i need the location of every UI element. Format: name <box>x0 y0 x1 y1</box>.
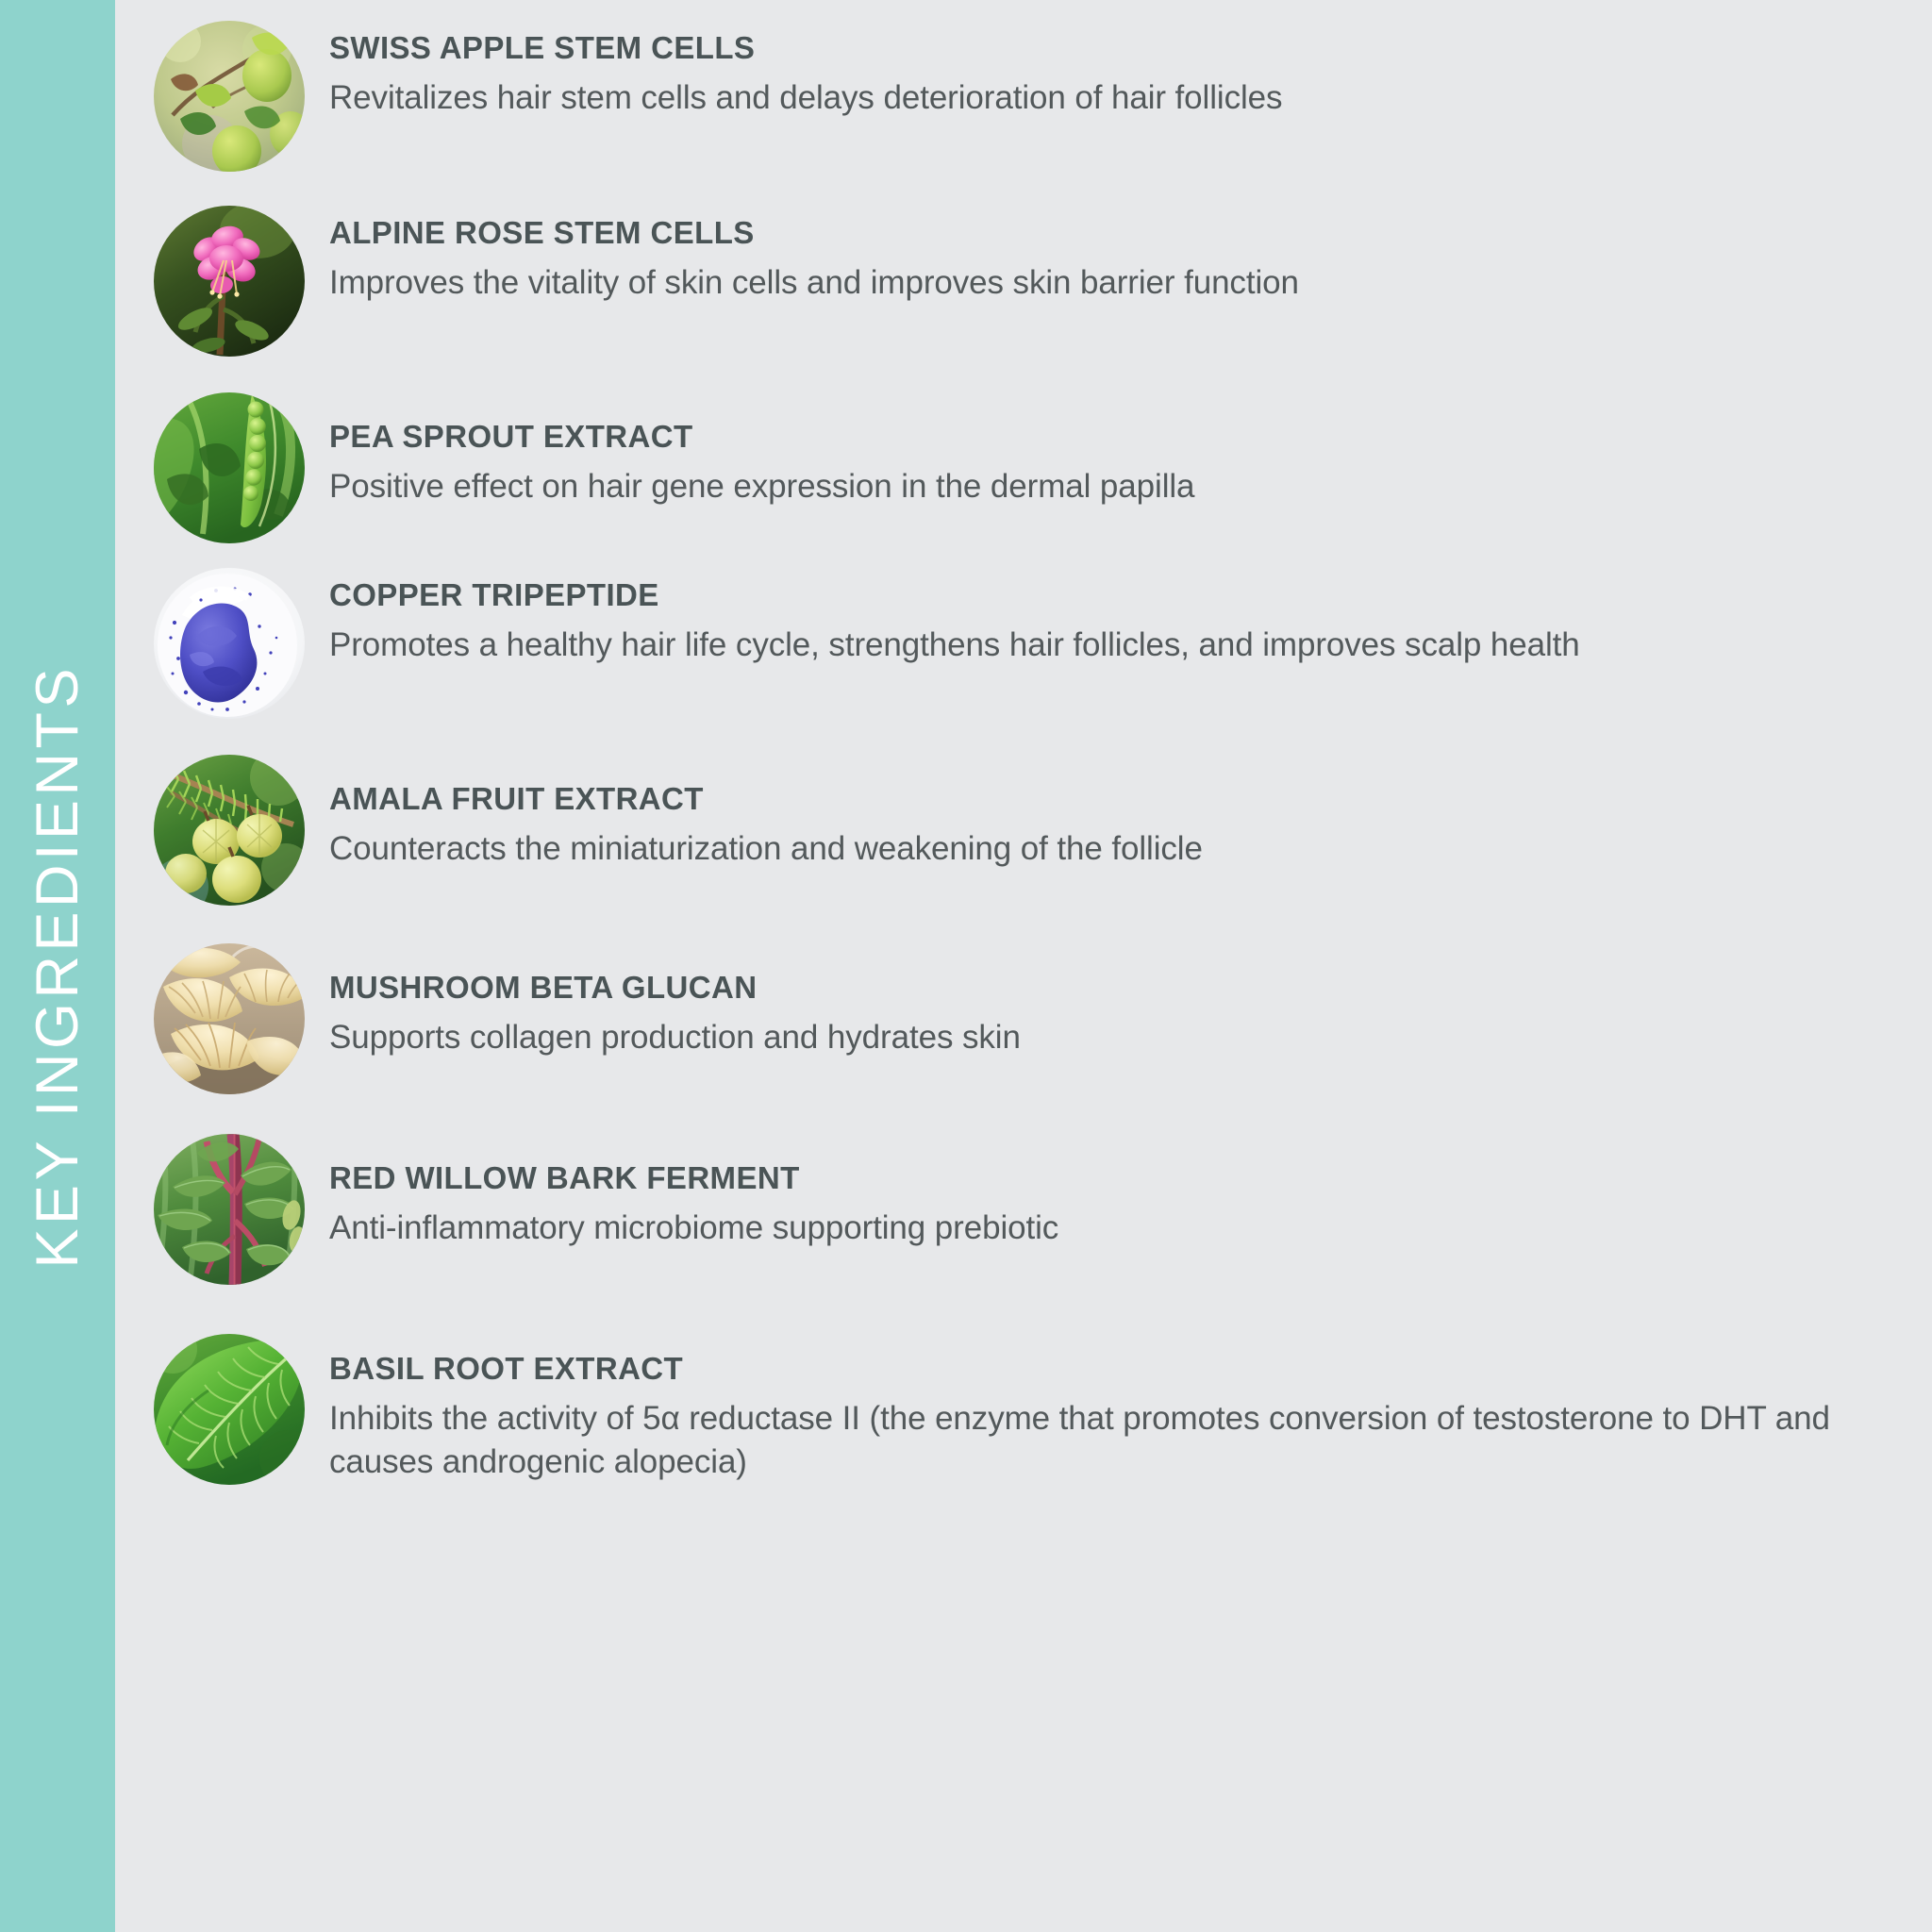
ingredient-text: SWISS APPLE STEM CELLS Revitalizes hair … <box>329 21 1909 120</box>
ingredient-description: Revitalizes hair stem cells and delays d… <box>329 76 1909 121</box>
basil-root-photo <box>154 1334 305 1485</box>
ingredient-thumbnail-wrap <box>154 943 305 1094</box>
alpine-rose-photo <box>154 206 305 357</box>
list-item: AMALA FRUIT EXTRACT Counteracts the mini… <box>154 755 1909 906</box>
swiss-apple-photo <box>154 21 305 172</box>
list-item: MUSHROOM BETA GLUCAN Supports collagen p… <box>154 943 1909 1094</box>
ingredient-text: RED WILLOW BARK FERMENT Anti-inflammator… <box>329 1134 1909 1250</box>
ingredient-title: ALPINE ROSE STEM CELLS <box>329 215 1909 251</box>
copper-tripeptide-powder-photo <box>154 568 305 719</box>
ingredient-description: Supports collagen production and hydrate… <box>329 1016 1909 1060</box>
ingredient-thumbnail-wrap <box>154 21 305 172</box>
ingredient-description: Positive effect on hair gene expression … <box>329 465 1909 509</box>
list-item: RED WILLOW BARK FERMENT Anti-inflammator… <box>154 1134 1909 1285</box>
list-item: BASIL ROOT EXTRACT Inhibits the activity… <box>154 1334 1909 1485</box>
key-ingredients-infographic: KEY INGREDIENTS <box>0 0 1932 1932</box>
sidebar: KEY INGREDIENTS <box>0 0 115 1932</box>
ingredient-thumbnail-wrap <box>154 1334 305 1485</box>
ingredient-text: BASIL ROOT EXTRACT Inhibits the activity… <box>329 1334 1909 1485</box>
ingredient-title: AMALA FRUIT EXTRACT <box>329 781 1909 817</box>
ingredient-description: Improves the vitality of skin cells and … <box>329 261 1909 306</box>
ingredient-text: AMALA FRUIT EXTRACT Counteracts the mini… <box>329 755 1909 871</box>
ingredient-title: PEA SPROUT EXTRACT <box>329 419 1909 455</box>
ingredient-text: PEA SPROUT EXTRACT Positive effect on ha… <box>329 392 1909 508</box>
ingredient-thumbnail-wrap <box>154 1134 305 1285</box>
red-willow-bark-photo <box>154 1134 305 1285</box>
ingredient-title: SWISS APPLE STEM CELLS <box>329 30 1909 66</box>
ingredient-text: COPPER TRIPEPTIDE Promotes a healthy hai… <box>329 568 1909 667</box>
amala-fruit-photo <box>154 755 305 906</box>
ingredient-thumbnail-wrap <box>154 392 305 543</box>
ingredient-text: MUSHROOM BETA GLUCAN Supports collagen p… <box>329 943 1909 1059</box>
mushroom-photo <box>154 943 305 1094</box>
ingredient-title: MUSHROOM BETA GLUCAN <box>329 970 1909 1006</box>
ingredients-panel: SWISS APPLE STEM CELLS Revitalizes hair … <box>115 0 1932 1932</box>
list-item: COPPER TRIPEPTIDE Promotes a healthy hai… <box>154 568 1909 719</box>
ingredient-description: Counteracts the miniaturization and weak… <box>329 827 1909 872</box>
pea-sprout-photo <box>154 392 305 543</box>
ingredient-thumbnail-wrap <box>154 755 305 906</box>
sidebar-title: KEY INGREDIENTS <box>24 664 92 1268</box>
ingredient-description: Promotes a healthy hair life cycle, stre… <box>329 624 1909 668</box>
ingredient-text: ALPINE ROSE STEM CELLS Improves the vita… <box>329 206 1909 305</box>
ingredient-title: COPPER TRIPEPTIDE <box>329 577 1909 613</box>
ingredient-title: BASIL ROOT EXTRACT <box>329 1351 1909 1387</box>
list-item: ALPINE ROSE STEM CELLS Improves the vita… <box>154 206 1909 357</box>
ingredient-description: Inhibits the activity of 5α reductase II… <box>329 1397 1909 1485</box>
ingredient-thumbnail-wrap <box>154 206 305 357</box>
ingredient-description: Anti-inflammatory microbiome supporting … <box>329 1207 1909 1251</box>
ingredient-title: RED WILLOW BARK FERMENT <box>329 1160 1909 1196</box>
list-item: PEA SPROUT EXTRACT Positive effect on ha… <box>154 392 1909 543</box>
ingredient-thumbnail-wrap <box>154 568 305 719</box>
ingredients-list: SWISS APPLE STEM CELLS Revitalizes hair … <box>154 13 1909 1489</box>
list-item: SWISS APPLE STEM CELLS Revitalizes hair … <box>154 21 1909 172</box>
